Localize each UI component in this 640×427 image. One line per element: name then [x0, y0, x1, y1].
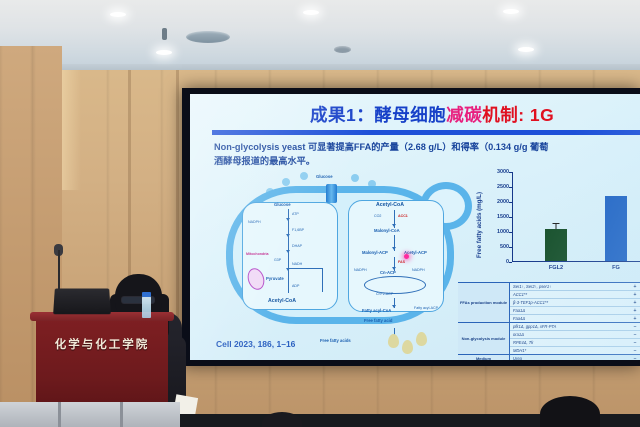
- genotype-gene: MDH1*: [510, 348, 622, 353]
- label-nadph-right-a: NADPH: [354, 268, 367, 272]
- label-extracellular-glucose: Glucose: [316, 174, 333, 179]
- glucose-molecule-icon: [351, 174, 359, 182]
- ceiling-vent-icon: [186, 31, 230, 43]
- water-bottle: [142, 296, 151, 318]
- genotype-gene: Faa4Δ: [510, 316, 622, 321]
- genotype-mark: +: [622, 284, 640, 290]
- genotype-mark: +: [622, 292, 640, 298]
- downlight: [503, 9, 519, 14]
- genotype-mark: +: [622, 300, 640, 306]
- chart-y-tick-mark: [509, 202, 512, 203]
- laser-pointer-dot: [404, 254, 409, 259]
- genotype-mark: –: [622, 340, 640, 346]
- label-fas: FAS: [398, 260, 405, 264]
- pathway-arrow: [392, 305, 396, 308]
- pathway-line: [322, 268, 323, 292]
- chart-y-tick-label: 1500: [497, 214, 509, 220]
- fatty-acid-synthesis-compartment: [348, 200, 444, 312]
- slide-title-part1: 成果1：: [310, 105, 374, 125]
- genotype-gene: RPE4Δ, Tk: [510, 340, 622, 345]
- genotype-gene: pfk1Δ, gpp1Δ, xFR-PTA: [510, 324, 622, 329]
- audience-member: [262, 412, 302, 427]
- glucose-molecule-icon: [282, 178, 290, 186]
- genotype-gene: ora1Δ: [510, 332, 622, 337]
- chart-y-tick-label: 3000: [497, 169, 509, 175]
- pathway-line: [288, 268, 322, 269]
- projection-screen: 成果1：酵母细胞减碳机制: 1G Non-glycolysis yeast 可显…: [190, 94, 640, 360]
- genotype-gene: ACC1**: [510, 292, 622, 297]
- genotype-mark: –: [622, 324, 640, 330]
- lipid-droplet-icon: [388, 334, 399, 348]
- chart-y-tick-mark: [509, 172, 512, 173]
- chart-bar: [605, 196, 627, 261]
- genotype-mark: –: [622, 332, 640, 338]
- label-free-fatty-acid: Free fatty acid: [364, 318, 392, 323]
- podium-label: 化学与化工学院: [36, 336, 168, 352]
- genotype-mark: +: [622, 316, 640, 322]
- slide-title: 成果1：酵母细胞减碳机制: 1G: [310, 102, 640, 127]
- label-mitochondria: Mitochondria: [246, 252, 269, 256]
- glucose-transporter-icon: [326, 184, 337, 203]
- pathway-arrow: [286, 218, 290, 221]
- slide-title-part3: 减碳: [446, 105, 482, 125]
- ceiling-sensor-icon: [162, 28, 167, 40]
- label-malonyl-coa: Malonyl-CoA: [374, 228, 400, 233]
- free-fatty-acids-bar-chart: Free fatty acids (mg/L) 0500100015002000…: [478, 172, 640, 282]
- genotype-module-label: Non-glycolysis module: [458, 323, 510, 355]
- genotype-gene: Ser1↑, Ser2↑, pser1↑: [510, 284, 622, 289]
- genotype-row: pfk1Δ, gpp1Δ, xFR-PTA–: [510, 323, 640, 331]
- ceiling-vent-icon: [334, 46, 351, 53]
- genotype-row: β-3-TEF1p-ACC1**+: [510, 299, 640, 307]
- chart-x-axis: [512, 261, 640, 262]
- chart-y-tick-label: 2000: [497, 199, 509, 205]
- genotype-row: Faa4Δ+: [510, 315, 640, 323]
- chart-y-axis-label: Free fatty acids (mg/L): [476, 192, 483, 258]
- label-g3p: G3P: [274, 258, 281, 262]
- label-atp: ATP: [292, 212, 299, 216]
- genotype-row: MDH1*–: [510, 347, 640, 355]
- glycolysis-compartment: [242, 202, 338, 310]
- genotype-module-label: Medium: [458, 355, 510, 360]
- label-excreted-ffa: Free fatty acids: [320, 338, 351, 343]
- genotype-gene: Urea: [510, 356, 622, 360]
- chair-divider: [58, 402, 61, 427]
- genotype-table: FFAs production moduleSer1↑, Ser2↑, pser…: [458, 282, 640, 354]
- label-cn2-acp: Cn+2-ACP: [376, 292, 393, 296]
- ceiling: [0, 0, 640, 72]
- label-f16bp: F1,6BP: [292, 228, 304, 232]
- yeast-cell-diagram: Glucose Glucose ATP F1,6BP DHAP G3P NADH…: [208, 172, 470, 352]
- slide-subtitle-line1: Non-glycolysis yeast 可显著提高FFA的产量（2.68 g/…: [214, 140, 640, 154]
- genotype-row: ora1Δ–: [510, 331, 640, 339]
- genotype-gene: Faa1Δ: [510, 308, 622, 313]
- chart-error-bar: [556, 224, 557, 229]
- genotype-module-label: FFAs production module: [458, 283, 510, 323]
- label-nadph-right-b: NADPH: [412, 268, 425, 272]
- label-cn-acp: Cn-ACP: [380, 270, 396, 275]
- glucose-molecule-icon: [300, 172, 308, 180]
- genotype-row: Urea–: [510, 355, 640, 360]
- chart-plot-area: 050010001500200025003000 FGL2FG: [512, 172, 640, 262]
- label-acc1: ACC1: [398, 214, 408, 218]
- chart-error-bar-cap: [553, 223, 560, 224]
- genotype-mark: +: [622, 308, 640, 314]
- label-malonyl-acp: Malonyl-ACP: [362, 250, 388, 255]
- genotype-group: MediumUrea–: [458, 355, 640, 360]
- chart-x-tick-label: FG: [612, 265, 620, 271]
- label-adp: ADP: [292, 284, 299, 288]
- pathway-arrow: [392, 247, 396, 250]
- chart-y-tick-mark: [509, 232, 512, 233]
- audience-member: [540, 396, 600, 427]
- chair-row: [0, 402, 180, 427]
- chart-y-tick-label: 500: [500, 244, 509, 250]
- pathway-arrow: [392, 224, 396, 227]
- lecture-hall-photo: 成果1：酵母细胞减碳机制: 1G Non-glycolysis yeast 可显…: [0, 0, 640, 427]
- slide-title-part4: 机制: 1G: [482, 105, 554, 125]
- chart-y-tick-mark: [509, 262, 512, 263]
- label-fatty-acyl-acp: Fatty acyl-ACP: [414, 306, 438, 310]
- slide-subtitle: Non-glycolysis yeast 可显著提高FFA的产量（2.68 g/…: [214, 140, 640, 169]
- chair-divider: [120, 402, 123, 427]
- genotype-gene: β-3-TEF1p-ACC1**: [510, 300, 622, 305]
- label-right-acetyl-coa: Acetyl-CoA: [376, 202, 404, 208]
- label-left-acetyl-coa: Acetyl-CoA: [268, 298, 296, 304]
- pathway-arrow: [286, 234, 290, 237]
- title-underline-rule: [212, 130, 640, 135]
- label-pyruvate: Pyruvate: [266, 276, 284, 281]
- chart-y-tick-mark: [509, 217, 512, 218]
- genotype-mark: –: [622, 356, 640, 361]
- genotype-row: Ser1↑, Ser2↑, pser1↑+: [510, 283, 640, 291]
- lipid-droplet-icon: [416, 332, 427, 346]
- chart-bar: [545, 229, 567, 261]
- chart-y-tick-label: 2500: [497, 184, 509, 190]
- downlight: [303, 10, 319, 15]
- genotype-row: ACC1**+: [510, 291, 640, 299]
- label-co2: CO2: [374, 214, 381, 218]
- water-bottle-cap: [142, 292, 151, 297]
- label-nadph-left: NADPH: [248, 220, 261, 224]
- pathway-arrow: [286, 250, 290, 253]
- genotype-mark: –: [622, 348, 640, 354]
- downlight: [110, 12, 126, 17]
- chart-x-tick-label: FGL2: [549, 265, 563, 271]
- label-nadh: NADH: [292, 262, 302, 266]
- slide-citation: Cell 2023, 186, 1–16: [216, 339, 295, 349]
- slide-subtitle-line2: 酒酵母报道的最高水平。: [214, 154, 640, 168]
- label-intracellular-glucose: Glucose: [274, 202, 291, 207]
- chart-y-tick-label: 1000: [497, 229, 509, 235]
- genotype-row: Faa1Δ+: [510, 307, 640, 315]
- label-fatty-acyl-coa: Fatty acyl-CoA: [362, 308, 391, 313]
- chart-y-axis: [512, 172, 513, 262]
- downlight: [518, 47, 534, 52]
- chart-y-tick-mark: [509, 187, 512, 188]
- lipid-droplet-icon: [402, 340, 413, 354]
- genotype-row: RPE4Δ, Tk–: [510, 339, 640, 347]
- slide-title-part2: 酵母细胞: [374, 105, 446, 125]
- laptop: [53, 289, 111, 315]
- genotype-group: Non-glycolysis modulepfk1Δ, gpp1Δ, xFR-P…: [458, 323, 640, 355]
- label-dhap: DHAP: [292, 244, 302, 248]
- genotype-group: FFAs production moduleSer1↑, Ser2↑, pser…: [458, 283, 640, 323]
- downlight: [156, 50, 172, 55]
- elongation-cycle-icon: [364, 276, 426, 294]
- chart-y-tick-mark: [509, 247, 512, 248]
